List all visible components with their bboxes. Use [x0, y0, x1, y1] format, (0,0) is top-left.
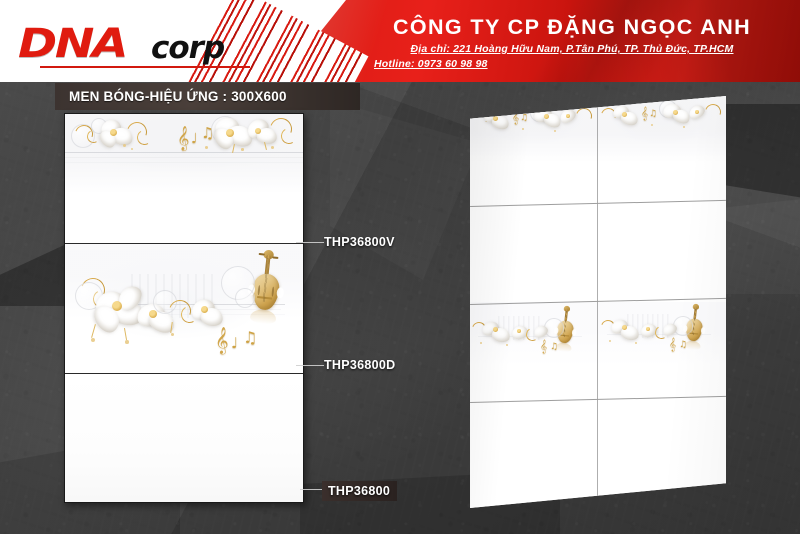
- logo-underline-rule: [40, 66, 250, 68]
- catalog-page: DNA corp CÔNG TY CP ĐẶNG NGỌC ANH Địa ch…: [0, 0, 800, 534]
- company-name: CÔNG TY CP ĐẶNG NGỌC ANH: [362, 14, 782, 40]
- tile-code-label-bottom: THP36800: [322, 481, 397, 501]
- tile-middle[interactable]: 𝄞 ♩ ♫: [65, 244, 303, 374]
- wall-cell-r3c2[interactable]: 𝄞 ♫: [597, 302, 726, 401]
- tile-code-label-top: THP36800V: [324, 235, 395, 249]
- header-contact-block: CÔNG TY CP ĐẶNG NGỌC ANH Địa chỉ: 221 Ho…: [362, 14, 782, 72]
- tile-code-label-middle: THP36800D: [324, 358, 396, 372]
- tile-top-artwork: 𝄞 ♩ ♫: [65, 114, 303, 243]
- brand-logo[interactable]: DNA corp: [18, 24, 268, 68]
- logo-primary-text: DNA: [18, 24, 126, 64]
- wall-mockup-panel: 𝄞 ♫: [468, 96, 726, 508]
- tile-sample-stack: 𝄞 ♩ ♫: [64, 113, 304, 503]
- tile-top[interactable]: 𝄞 ♩ ♫: [65, 114, 303, 244]
- tile-middle-artwork: 𝄞 ♩ ♫: [65, 244, 303, 373]
- wall-cell-artwork: 𝄞 ♫: [468, 302, 597, 401]
- leader-line-top: [296, 242, 324, 243]
- section-title-text: MEN BÓNG-HIỆU ỨNG : 300X600: [55, 89, 287, 104]
- company-hotline: Hotline: 0973 60 98 98: [362, 57, 782, 72]
- section-title-bar: MEN BÓNG-HIỆU ỨNG : 300X600: [55, 83, 360, 110]
- wall-cell-artwork: 𝄞 ♫: [597, 96, 726, 203]
- wall-cell-artwork: 𝄞 ♫: [597, 302, 726, 401]
- wall-cell-r3c1[interactable]: 𝄞 ♫: [468, 302, 597, 401]
- wall-cell-r4c1[interactable]: [468, 401, 597, 508]
- wall-cell-r1c2[interactable]: 𝄞 ♫: [597, 96, 726, 203]
- wall-cell-r2c2[interactable]: [597, 203, 726, 302]
- tile-bottom[interactable]: [65, 374, 303, 502]
- logo-secondary-text: corp: [151, 33, 224, 64]
- company-address: Địa chỉ: 221 Hoàng Hữu Nam, P.Tân Phú, T…: [362, 42, 782, 57]
- leader-line-middle: [296, 365, 324, 366]
- leader-line-bottom: [300, 489, 322, 490]
- wall-tile-grid: 𝄞 ♫: [468, 96, 726, 508]
- wall-grout-v1: [597, 96, 598, 508]
- tile-bottom-artwork: [65, 374, 303, 502]
- wall-cell-r2c1[interactable]: [468, 203, 597, 302]
- page-header: DNA corp CÔNG TY CP ĐẶNG NGỌC ANH Địa ch…: [0, 0, 800, 82]
